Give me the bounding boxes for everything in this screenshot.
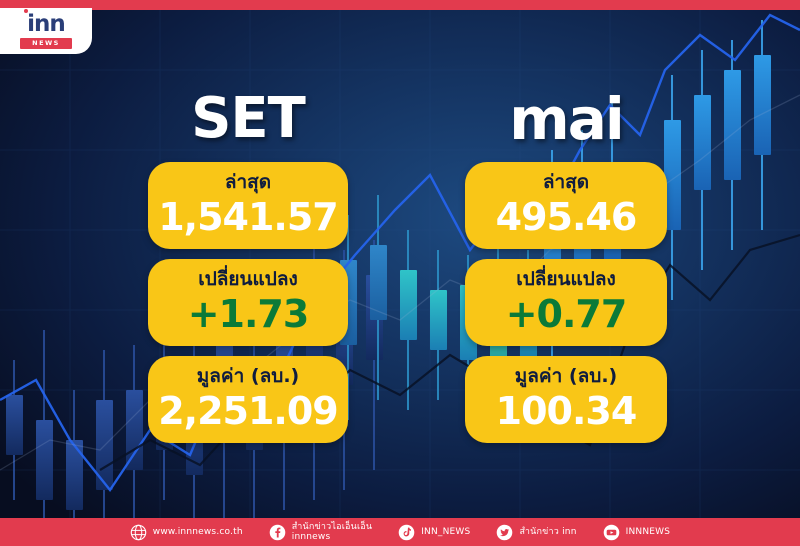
logo-wordmark: inn: [15, 13, 77, 36]
index-title-mai: mai: [465, 88, 667, 150]
youtube-icon: [603, 524, 620, 541]
stat-card-set-change: เปลี่ยนแปลง +1.73: [148, 259, 348, 346]
stat-label: มูลค่า (ลบ.): [154, 364, 342, 388]
stat-value: 495.46: [471, 195, 661, 239]
stat-value: 100.34: [471, 389, 661, 433]
logo-news-badge: NEWS: [20, 38, 72, 49]
stat-card-mai-latest: ล่าสุด 495.46: [465, 162, 667, 249]
stat-label: เปลี่ยนแปลง: [471, 267, 661, 291]
screenshot-root: inn NEWS SET ล่าสุด 1,541.57 เปลี่ยนแปลง…: [0, 0, 800, 546]
stat-card-set-latest: ล่าสุด 1,541.57: [148, 162, 348, 249]
footer-label-line2: innnews: [292, 532, 372, 543]
footer-label: INN_NEWS: [421, 527, 470, 538]
stat-card-set-value: มูลค่า (ลบ.) 2,251.09: [148, 356, 348, 443]
footer-label: INNNEWS: [626, 527, 671, 538]
footer-item-twitter[interactable]: สำนักข่าว inn: [496, 524, 576, 541]
footer-label: สำนักข่าว inn: [519, 527, 576, 538]
stat-value: 1,541.57: [154, 195, 342, 239]
stat-value: 2,251.09: [154, 389, 342, 433]
facebook-icon: [269, 524, 286, 541]
social-footer-bar: www.innnews.co.th สำนักข่าวไอเอ็นเอ็น in…: [0, 518, 800, 546]
index-column-set: SET ล่าสุด 1,541.57 เปลี่ยนแปลง +1.73 มู…: [148, 88, 348, 453]
globe-icon: [130, 524, 147, 541]
twitter-icon: [496, 524, 513, 541]
footer-item-website[interactable]: www.innnews.co.th: [130, 524, 243, 541]
stat-label: เปลี่ยนแปลง: [154, 267, 342, 291]
stat-card-mai-value: มูลค่า (ลบ.) 100.34: [465, 356, 667, 443]
tiktok-icon: [398, 524, 415, 541]
footer-item-youtube[interactable]: INNNEWS: [603, 524, 671, 541]
stat-label: ล่าสุด: [471, 170, 661, 194]
stat-value: +0.77: [471, 292, 661, 336]
footer-label: www.innnews.co.th: [153, 527, 243, 538]
footer-item-tiktok[interactable]: INN_NEWS: [398, 524, 470, 541]
inn-news-logo[interactable]: inn NEWS: [0, 8, 92, 54]
footer-label: สำนักข่าวไอเอ็นเอ็น innnews: [292, 522, 372, 543]
index-column-mai: mai ล่าสุด 495.46 เปลี่ยนแปลง +0.77 มูลค…: [465, 88, 667, 453]
top-red-bar: [0, 0, 800, 10]
footer-label-line1: สำนักข่าวไอเอ็นเอ็น: [292, 522, 372, 532]
footer-item-facebook[interactable]: สำนักข่าวไอเอ็นเอ็น innnews: [269, 522, 372, 543]
stat-value: +1.73: [154, 292, 342, 336]
stat-card-mai-change: เปลี่ยนแปลง +0.77: [465, 259, 667, 346]
stat-label: มูลค่า (ลบ.): [471, 364, 661, 388]
index-title-set: SET: [148, 88, 348, 150]
background-chart: [0, 0, 800, 546]
stat-label: ล่าสุด: [154, 170, 342, 194]
